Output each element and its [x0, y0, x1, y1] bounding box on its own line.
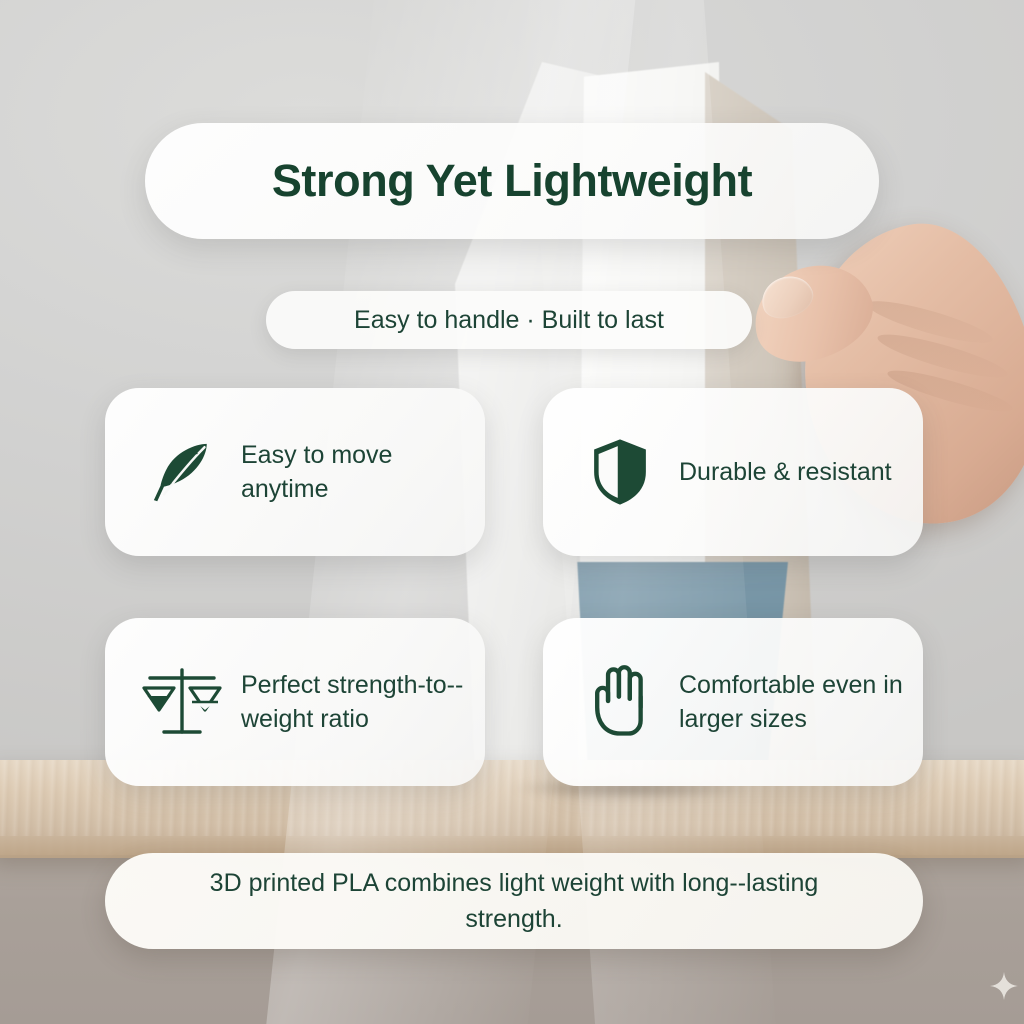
page-subtitle: Easy to handle · Built to last: [354, 306, 664, 335]
feature-label: Easy to move anytime: [241, 438, 465, 507]
feature-card-comfortable[interactable]: Comfortable even in larger sizes: [543, 618, 923, 786]
feature-card-durable[interactable]: Durable & resistant: [543, 388, 923, 556]
footer-pill: 3D printed PLA combines light weight wit…: [105, 853, 923, 949]
balance-scale-icon: [139, 659, 225, 745]
feather-icon: [139, 429, 225, 515]
footer-description: 3D printed PLA combines light weight wit…: [164, 865, 864, 938]
feature-label: Durable & resistant: [679, 455, 892, 490]
product-feature-graphic: Strong Yet Lightweight Easy to handle · …: [0, 0, 1024, 1024]
feature-label: Comfortable even in larger sizes: [679, 668, 903, 737]
subtitle-pill: Easy to handle · Built to last: [266, 291, 752, 349]
sparkle-icon: [988, 970, 1020, 1002]
shield-icon: [577, 429, 663, 515]
feature-card-grid: Easy to move anytime Durable & resistant: [105, 388, 923, 786]
feature-label: Perfect strength-to--weight ratio: [241, 668, 465, 737]
open-hand-icon: [577, 659, 663, 745]
overlay-ui: Strong Yet Lightweight Easy to handle · …: [0, 0, 1024, 1024]
feature-card-easy-to-move[interactable]: Easy to move anytime: [105, 388, 485, 556]
title-pill: Strong Yet Lightweight: [145, 123, 879, 239]
feature-card-strength-weight-ratio[interactable]: Perfect strength-to--weight ratio: [105, 618, 485, 786]
page-title: Strong Yet Lightweight: [272, 155, 752, 207]
